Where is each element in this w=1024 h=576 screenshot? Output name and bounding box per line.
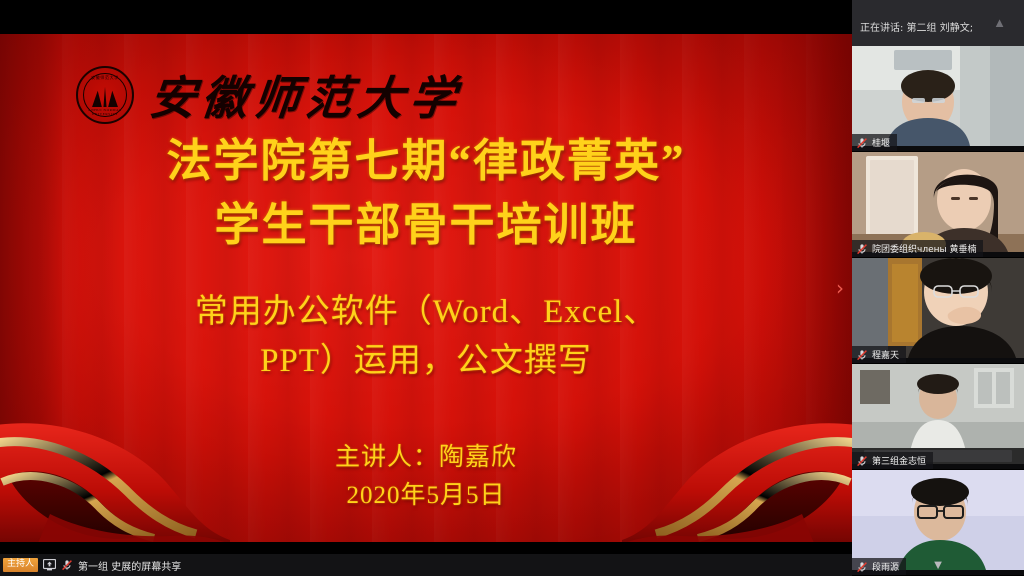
participant-name-chip: 桂堰	[852, 134, 897, 151]
participant-name-chip: 第三组金志恒	[852, 452, 933, 469]
shared-screen-stage[interactable]: 安徽师范大学 ANHUI NORMAL UNIVERSITY 安徽师范大学 法学…	[0, 0, 852, 576]
presentation-slide[interactable]: 安徽师范大学 ANHUI NORMAL UNIVERSITY 安徽师范大学 法学…	[0, 34, 852, 542]
participant-video-feed	[852, 470, 1024, 570]
seal-bottom-text: ANHUI NORMAL UNIVERSITY	[78, 108, 132, 116]
mic-muted-icon	[856, 349, 868, 361]
active-speaker-bar[interactable]: 正在讲话: 第二组 刘静文; ▲	[852, 0, 1024, 46]
screen-share-owner-text: 第一组 史展的屏幕共享	[78, 558, 181, 573]
participant-video-feed	[852, 364, 1024, 464]
video-tile[interactable]: 第三组金志恒	[852, 364, 1024, 470]
slide-presenter-name: 主讲人：陶嘉欣	[0, 439, 852, 477]
slide-title-line-1: 法学院第七期“律政菁英”	[0, 130, 852, 194]
seal-emblem-icon	[92, 85, 118, 107]
host-badge: 主持人	[3, 558, 38, 572]
participant-filmstrip[interactable]: 正在讲话: 第二组 刘静文; ▲	[852, 0, 1024, 576]
screen-share-status-bar: 主持人 第一组 史展的屏幕共享	[0, 554, 852, 576]
slide-subtitle-line-1: 常用办公软件（Word、Excel、	[0, 288, 852, 337]
video-tile[interactable]: 段雨源 ▼	[852, 470, 1024, 576]
participant-name-chip: 段雨源	[852, 558, 906, 575]
next-slide-arrow-icon[interactable]: ›	[836, 278, 844, 298]
university-seal-icon: 安徽师范大学 ANHUI NORMAL UNIVERSITY	[76, 66, 134, 124]
participant-name-chip: 院团委组织члены 黄垂楠	[852, 240, 983, 257]
participant-name: 院团委组织члены 黄垂楠	[872, 242, 976, 255]
seal-top-text: 安徽师范大学	[78, 75, 132, 81]
mic-muted-icon[interactable]	[61, 559, 73, 571]
slide-subtitle-line-2: PPT）运用，公文撰写	[0, 337, 852, 386]
participant-video-feed	[852, 152, 1024, 252]
participant-name: 程嘉天	[872, 348, 899, 361]
mic-muted-icon	[856, 243, 868, 255]
participant-name-chip: 程嘉天	[852, 346, 906, 363]
participant-name: 段雨源	[872, 560, 899, 573]
video-tile[interactable]: 程嘉天	[852, 258, 1024, 364]
slide-text-body: 法学院第七期“律政菁英” 学生干部骨干培训班 常用办公软件（Word、Excel…	[0, 130, 852, 514]
screen-share-app: 安徽师范大学 ANHUI NORMAL UNIVERSITY 安徽师范大学 法学…	[0, 0, 1024, 576]
mic-muted-icon	[856, 455, 868, 467]
participant-name: 第三组金志恒	[872, 454, 926, 467]
screen-share-icon[interactable]	[43, 559, 56, 571]
university-wordmark: 安徽师范大学	[147, 62, 466, 128]
slide-subtitle: 常用办公软件（Word、Excel、 PPT）运用，公文撰写	[0, 288, 852, 386]
participant-name: 桂堰	[872, 136, 890, 149]
chevron-down-icon[interactable]: ▼	[932, 558, 945, 571]
mic-muted-icon	[856, 137, 868, 149]
slide-presenter-date: 2020年5月5日	[0, 477, 852, 515]
slide-title-line-2: 学生干部骨干培训班	[0, 194, 852, 258]
participant-video-feed	[852, 258, 1024, 358]
video-tile[interactable]: 院团委组织члены 黄垂楠	[852, 152, 1024, 258]
participant-video-feed	[852, 46, 1024, 146]
university-logo: 安徽师范大学 ANHUI NORMAL UNIVERSITY 安徽师范大学	[76, 62, 462, 128]
video-tile-list[interactable]: 桂堰	[852, 46, 1024, 576]
slide-presenter-block: 主讲人：陶嘉欣 2020年5月5日	[0, 439, 852, 514]
video-tile[interactable]: 桂堰	[852, 46, 1024, 152]
chevron-up-icon[interactable]: ▲	[993, 16, 1006, 29]
mic-muted-icon	[856, 561, 868, 573]
